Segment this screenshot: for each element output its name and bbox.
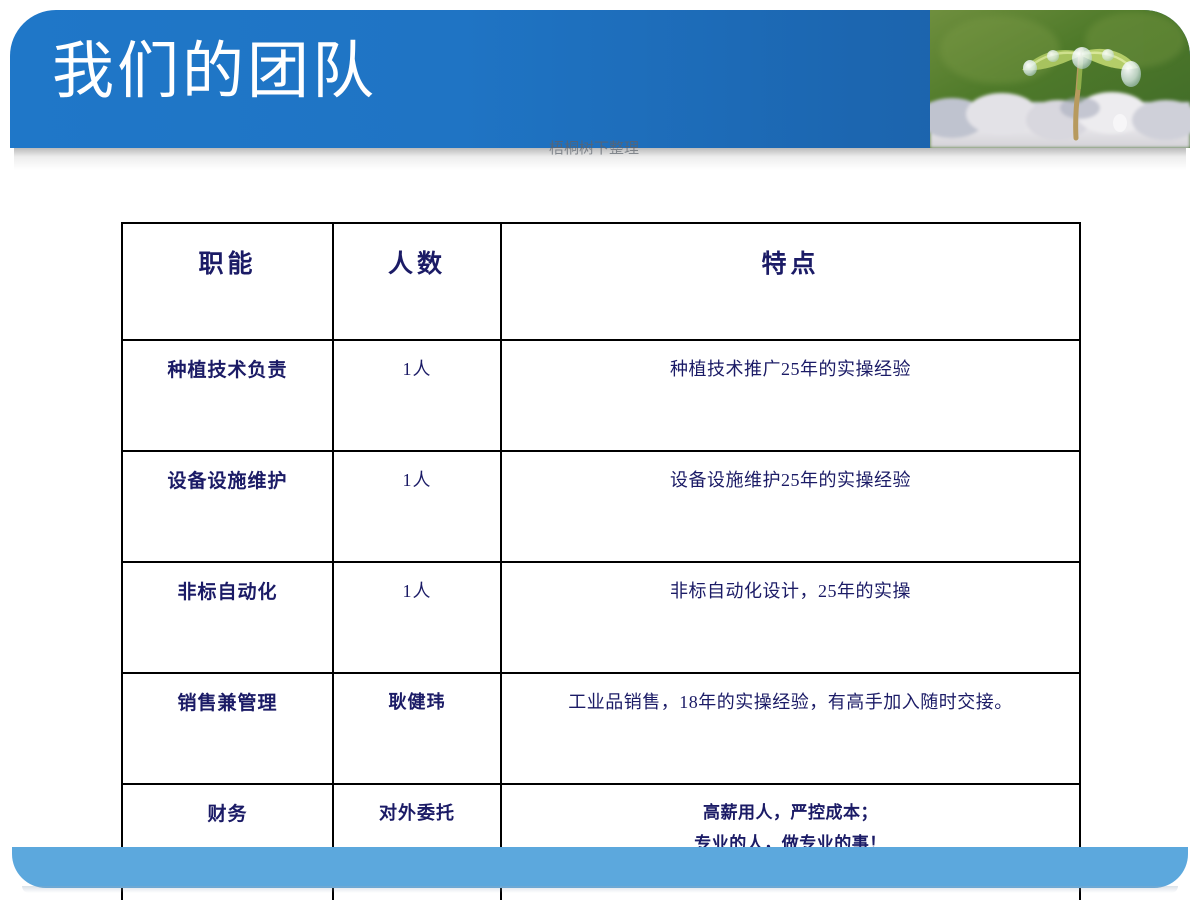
team-table: 职能 人数 特点 种植技术负责 1人 种植技术推广25年的实操经验 设备设施维护… — [121, 222, 1081, 900]
cell-role: 种植技术负责 — [122, 340, 333, 451]
cell-feature: 非标自动化设计，25年的实操 — [501, 562, 1080, 673]
cell-feature: 工业品销售，18年的实操经验，有高手加入随时交接。 — [501, 673, 1080, 784]
cell-count: 1人 — [333, 340, 501, 451]
cell-count: 1人 — [333, 562, 501, 673]
table-row: 种植技术负责 1人 种植技术推广25年的实操经验 — [122, 340, 1080, 451]
column-header-count: 人数 — [333, 223, 501, 340]
column-header-role: 职能 — [122, 223, 333, 340]
table-row: 设备设施维护 1人 设备设施维护25年的实操经验 — [122, 451, 1080, 562]
cell-feature: 设备设施维护25年的实操经验 — [501, 451, 1080, 562]
note-line: 工业品销售，18年的实操经验，有高手加入随时交接。 — [510, 688, 1071, 714]
cell-role: 非标自动化 — [122, 562, 333, 673]
page-title: 我们的团队 — [52, 34, 377, 110]
table-row: 销售兼管理 耿健玮 工业品销售，18年的实操经验，有高手加入随时交接。 — [122, 673, 1080, 784]
bottom-decoration-bar — [12, 847, 1188, 888]
slide: 我们的团队 梧桐树下整理 职能 人数 特点 种植技术负责 1人 种植技术推广25… — [0, 0, 1200, 900]
note-line: 高薪用人，严控成本； — [510, 797, 1071, 828]
note-line: 种植技术推广25年的实操经验 — [510, 355, 1071, 381]
cell-role: 销售兼管理 — [122, 673, 333, 784]
cell-count: 1人 — [333, 451, 501, 562]
seedling-dew-photo — [930, 10, 1190, 148]
note-line: 非标自动化设计，25年的实操 — [510, 577, 1071, 603]
note-line: 设备设施维护25年的实操经验 — [510, 466, 1071, 492]
bottom-bar-shadow — [22, 886, 1178, 893]
cell-feature: 种植技术推广25年的实操经验 — [501, 340, 1080, 451]
table-header-row: 职能 人数 特点 — [122, 223, 1080, 340]
cell-role: 设备设施维护 — [122, 451, 333, 562]
header-shadow — [14, 148, 1186, 170]
cell-count: 耿健玮 — [333, 673, 501, 784]
table-row: 非标自动化 1人 非标自动化设计，25年的实操 — [122, 562, 1080, 673]
column-header-feature: 特点 — [501, 223, 1080, 340]
